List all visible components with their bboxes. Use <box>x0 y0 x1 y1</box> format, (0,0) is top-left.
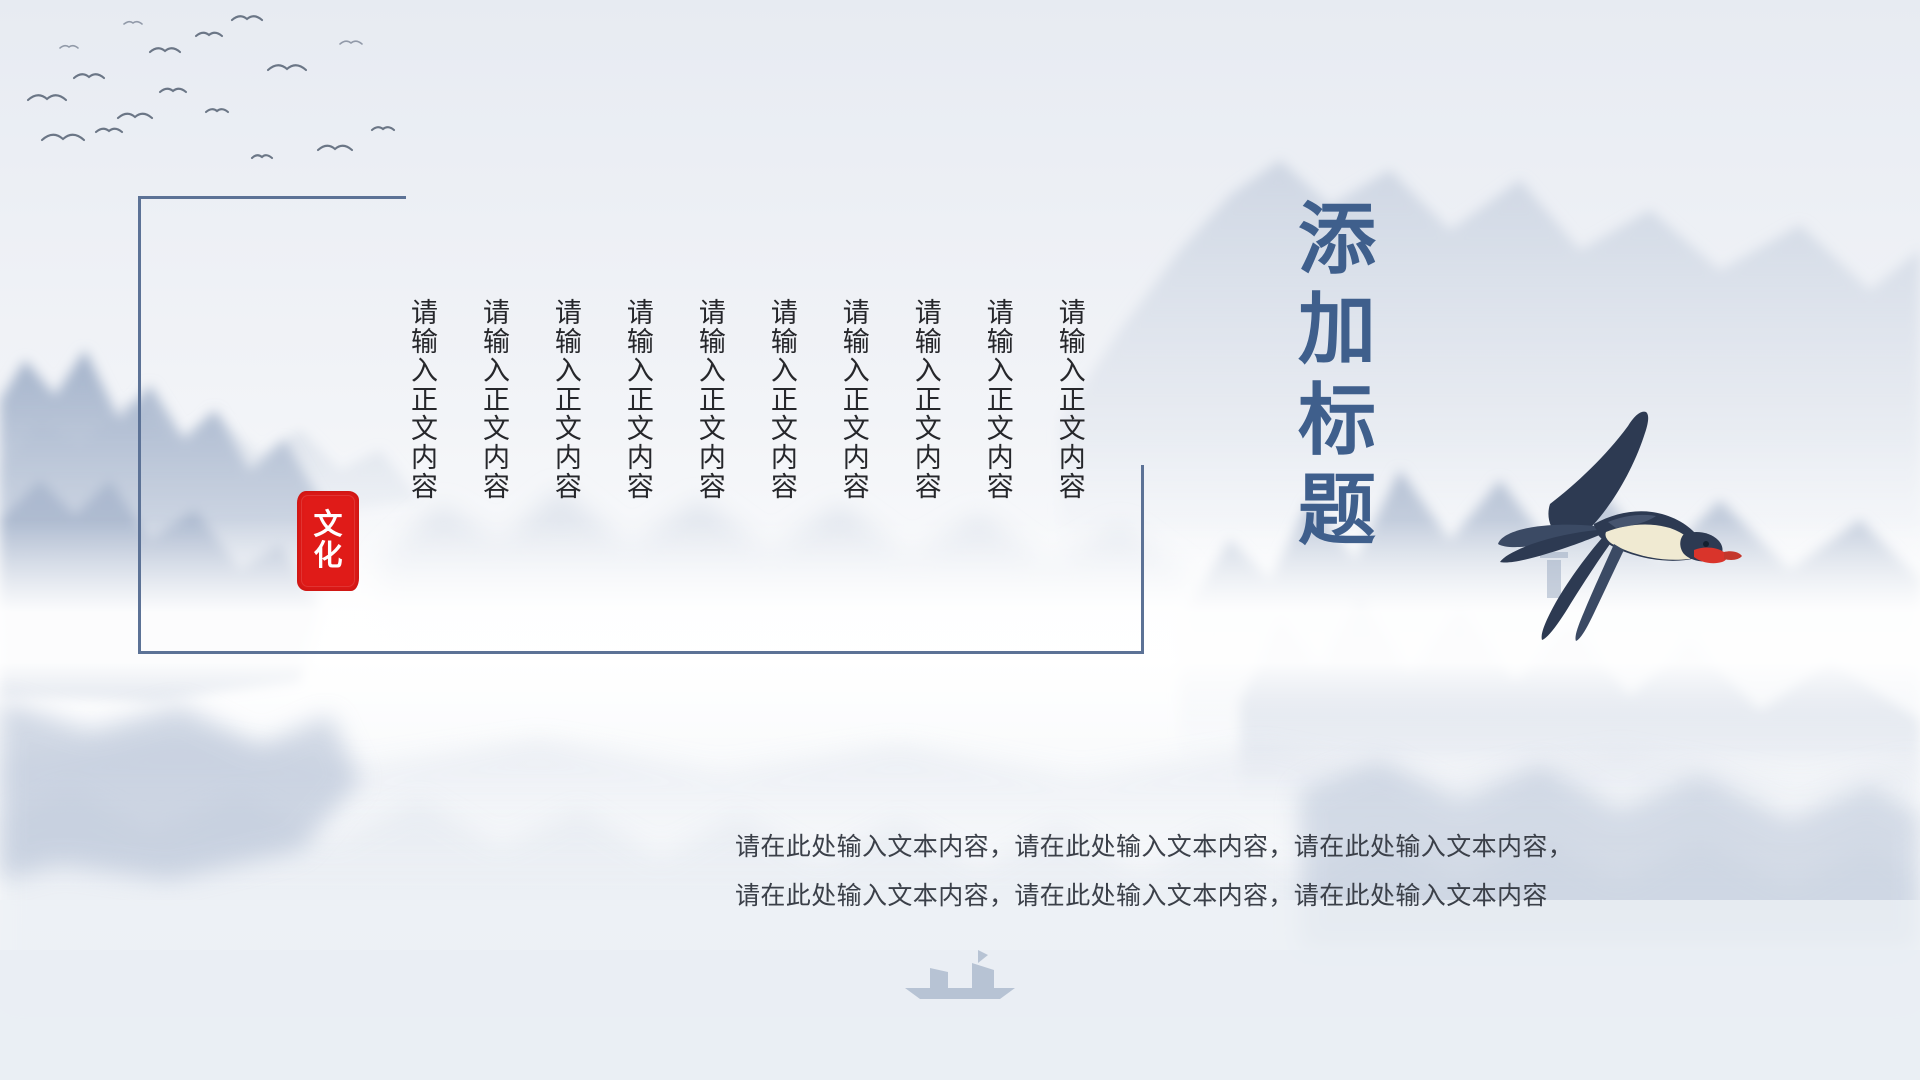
vertical-text-column[interactable]: 请输入正文内容 <box>1046 298 1093 501</box>
swallow-icon <box>1498 392 1758 642</box>
vertical-text-column[interactable]: 请输入正文内容 <box>470 298 517 501</box>
title-character: 添 <box>1298 195 1376 285</box>
page-title[interactable]: 添 加 标 题 <box>1298 195 1376 557</box>
vertical-text-column[interactable]: 请输入正文内容 <box>758 298 805 501</box>
bird-flock-decoration <box>0 0 560 220</box>
frame-line-bottom <box>138 651 1144 654</box>
seal-character: 文 <box>313 511 342 540</box>
frame-line-top <box>138 196 406 199</box>
slide-canvas: 请输入正文内容 请输入正文内容 请输入正文内容 请输入正文内容 请输入正文内容 … <box>0 0 1920 1080</box>
vertical-body-text-block: 请输入正文内容 请输入正文内容 请输入正文内容 请输入正文内容 请输入正文内容 … <box>398 298 1093 501</box>
frame-line-right <box>1141 465 1144 654</box>
vertical-text-column[interactable]: 请输入正文内容 <box>686 298 733 501</box>
title-character: 标 <box>1298 376 1376 466</box>
vertical-text-column[interactable]: 请输入正文内容 <box>974 298 1021 501</box>
caption-paragraph[interactable]: 请在此处输入文本内容，请在此处输入文本内容，请在此处输入文本内容， 请在此处输入… <box>735 823 1725 921</box>
title-character: 加 <box>1298 285 1376 375</box>
vertical-text-column[interactable]: 请输入正文内容 <box>902 298 949 501</box>
vertical-text-column[interactable]: 请输入正文内容 <box>542 298 589 501</box>
frame-line-left <box>138 196 141 654</box>
vertical-text-column[interactable]: 请输入正文内容 <box>398 298 445 501</box>
vertical-text-column[interactable]: 请输入正文内容 <box>830 298 877 501</box>
title-character: 题 <box>1298 466 1376 556</box>
red-seal-stamp: 文 化 <box>297 491 359 591</box>
caption-line: 请在此处输入文本内容，请在此处输入文本内容，请在此处输入文本内容， <box>735 823 1725 872</box>
seal-character: 化 <box>313 542 342 571</box>
vertical-text-column[interactable]: 请输入正文内容 <box>614 298 661 501</box>
caption-line: 请在此处输入文本内容，请在此处输入文本内容，请在此处输入文本内容 <box>735 872 1725 921</box>
